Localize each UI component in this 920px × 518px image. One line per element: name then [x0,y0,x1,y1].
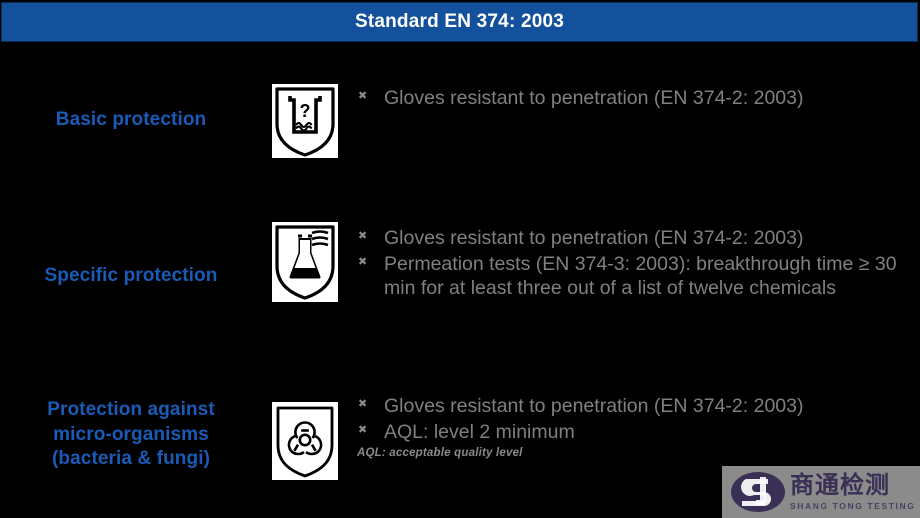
bullets-basic-protection: ✖ Gloves resistant to penetration (EN 37… [348,78,920,112]
bullet-cross-icon: ✖ [356,394,384,415]
biohazard-shield-pictogram [272,402,338,480]
list-item-text: Gloves resistant to penetration (EN 374-… [384,226,920,251]
logo-chinese-name: 商通检测 [790,473,915,498]
erlenmeyer-flask-shield-pictogram [272,222,338,302]
beaker-question-shield-pictogram: ? [272,84,338,158]
logo-english-name: SHANG TONG TESTING [790,501,915,511]
row-specific-protection: Specific protection ✖ Gloves resistant t… [0,222,920,302]
bullets-specific-protection: ✖ Gloves resistant to penetration (EN 37… [348,222,920,302]
list-item-text: Permeation tests (EN 374-3: 2003): break… [384,252,920,301]
footnote-aql: AQL: acceptable quality level [356,447,920,459]
row-label-line: micro-organisms [0,423,262,448]
list-item: ✖ Gloves resistant to penetration (EN 37… [356,226,920,251]
row-label-microorganism-protection: Protection against micro-organisms (bact… [0,392,262,472]
bullet-cross-icon: ✖ [356,420,384,441]
list-item-text: Gloves resistant to penetration (EN 374-… [384,394,920,419]
bullets-microorganism-protection: ✖ Gloves resistant to penetration (EN 37… [348,392,920,459]
svg-text:?: ? [300,101,311,121]
list-item-text: AQL: level 2 minimum [384,420,920,445]
list-item: ✖ Gloves resistant to penetration (EN 37… [356,394,920,419]
list-item-text: Gloves resistant to penetration (EN 374-… [384,86,920,111]
shangtong-monogram-icon [730,470,786,514]
bullet-cross-icon: ✖ [356,86,384,107]
list-item: ✖ Gloves resistant to penetration (EN 37… [356,86,920,111]
page-title: Standard EN 374: 2003 [355,11,564,33]
row-label-line: Protection against [0,398,262,423]
company-logo: 商通检测 SHANG TONG TESTING [722,466,920,518]
icon-cell-specific-protection [262,222,348,302]
row-basic-protection: Basic protection ? ✖ Gloves resistant to… [0,78,920,158]
header-bar: Standard EN 374: 2003 [1,2,918,42]
list-item: ✖ AQL: level 2 minimum [356,420,920,445]
icon-cell-basic-protection: ? [262,78,348,158]
slide-root: Standard EN 374: 2003 Basic protection ?… [0,0,920,518]
bullet-cross-icon: ✖ [356,252,384,273]
logo-text-block: 商通检测 SHANG TONG TESTING [790,473,915,510]
bullet-cross-icon: ✖ [356,226,384,247]
row-label-line: (bacteria & fungi) [0,447,262,472]
icon-cell-microorganism-protection [262,392,348,480]
list-item: ✖ Permeation tests (EN 374-3: 2003): bre… [356,252,920,301]
row-label-basic-protection: Basic protection [0,78,262,133]
row-label-specific-protection: Specific protection [0,222,262,289]
